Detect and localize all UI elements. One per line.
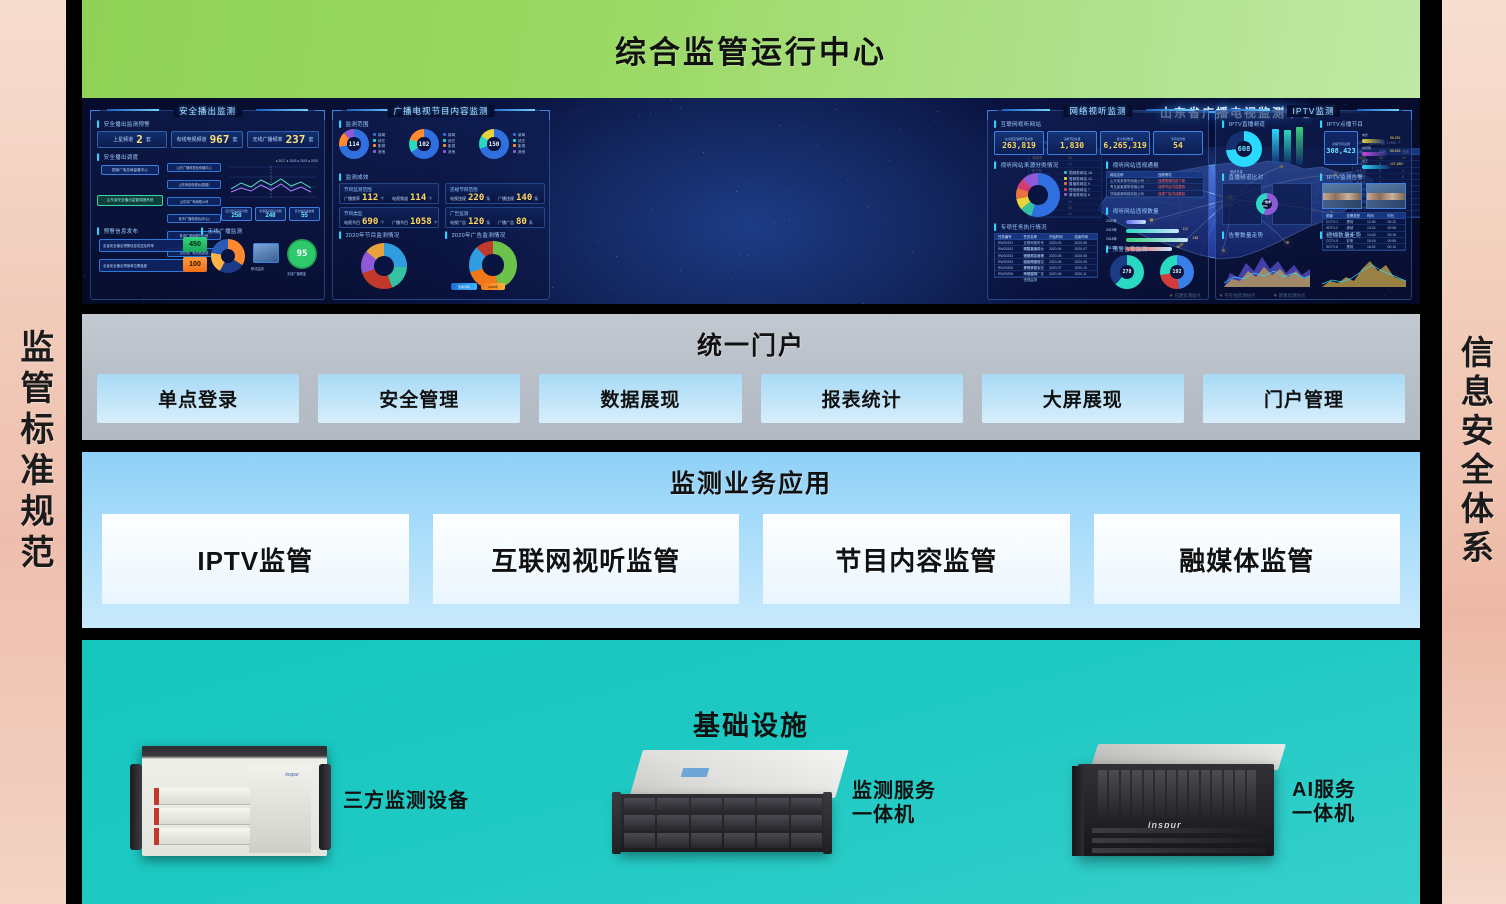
subtitle: 监测成效 [339,173,369,181]
section-unified-portal: 统一门户 单点登录安全管理数据展现报表统计大屏展现门户管理 [82,314,1420,440]
table-cell: 网络动漫内容专项核查 [1021,259,1047,264]
stat-card: 节目类型电视节目690个广播节目1058个 [339,207,439,228]
drive-bay [757,798,788,813]
table-cell: 网络直播平台违规内容清理 [1021,246,1047,251]
subtitle: 安全播出监测预警 [97,120,150,128]
subtitle: 互联网视听网站 [994,120,1041,128]
information-security-rail-label: 信息安全体系 [1457,335,1492,569]
drive-bay [724,798,755,813]
layer-stack: 综合监管运行中心 安全播出监测 安全播出监测预警 上星频道 2 套 [82,0,1420,904]
stat-card: 违规节目范围电视违规220条广播违规140条 [445,183,545,204]
infra-label: 三方监测设备 [343,789,469,813]
subtitle: 预警告警监测 [1106,245,1147,253]
kpi-value: 6,265,319 [1103,141,1146,150]
hbar [1362,165,1390,169]
flow-item: 山东省广电网络公司 [167,197,221,206]
stat-item: 电视节目690个 [344,217,384,227]
portal-box[interactable]: 数据展现 [539,374,741,423]
subtitle: 视听网站违规通报 [1106,161,1159,169]
stat-value: 220 [468,193,484,203]
vent-slot [1121,770,1130,818]
subtitle: IPTV直播频道 [1222,120,1265,128]
stat-value: 690 [362,217,378,227]
tag: 查看详情 [451,283,477,290]
donut-value: 150 [487,137,500,150]
subtitle: 直播频道比对 [1222,173,1263,181]
table-cell: 互联网视听专项整治行动 [1021,240,1047,245]
donut-chart [469,241,517,289]
year-value: 25 [1150,218,1154,222]
unified-portal-items: 单点登录安全管理数据展现报表统计大屏展现门户管理 [82,362,1420,423]
table-cell: 违规节目内容整改 [1155,184,1203,189]
task-table[interactable]: 任务编号任务名称开始时间结束时间RW20201互联网视听专项整治行动2020-0… [994,233,1098,278]
table-cell: 00:12 [1385,219,1406,224]
stat-card: 广告监测电视广告120条广播广告80条 [445,207,545,228]
stat-value: 1058 [410,217,432,227]
drive-bay [757,833,788,848]
portal-box[interactable]: 安全管理 [318,374,520,423]
stat-unit: 个 [434,220,438,226]
table-header-cell: 频道 [1323,213,1344,218]
tag: 2020年 [481,283,505,290]
star [325,174,326,175]
table-header-cell: 开始时间 [1046,234,1072,239]
kpi-card: 违规节目总量1,830 [1047,131,1097,155]
vent-slot [1224,770,1233,818]
panel-program-content-title: 广播电视节目内容监测 [387,105,494,117]
infrastructure-title: 基础设施 [82,640,1420,743]
drive-bay [657,815,688,830]
stat-value: 120 [468,217,484,227]
stat-item: 电视广告120条 [450,217,490,227]
vent-slot [1189,770,1198,818]
line-chart [219,163,319,203]
star [84,276,85,277]
table-cell: RW20203 [995,253,1021,258]
flow-node: 山东省安全播出监管调度系统 [97,195,163,206]
subtitle: 告警数量走势 [1222,231,1263,239]
drive-bay [657,833,688,848]
donut-chart: 114 [339,129,369,159]
table-header-cell: 告警类型 [1344,213,1365,218]
stat-label: 电视违规 [450,196,466,202]
drive-bay [624,833,655,848]
drive-bay [624,798,655,813]
kpi-card: 有线电视频道 967 套 [171,131,243,148]
stat-item: 电视违规220条 [450,193,490,203]
hbar-value: 127,489 [1390,162,1402,166]
table-header-cell: 任务编号 [995,234,1021,239]
donut-value: 114 [347,137,360,150]
table-header-cell: 时长 [1385,213,1406,218]
stat-label: 广播广告 [498,220,514,226]
kpi-card: 在全国互联网节目总量263,819 [994,131,1044,155]
caption: 无线广播覆盖 [287,271,306,276]
table-header-cell: 任务名称 [1021,234,1047,239]
stat-label: 广播频率 [344,196,360,202]
app-box[interactable]: IPTV监管 [102,514,409,604]
table-header-cell: 时间 [1364,213,1385,218]
table-cell: 00:15 [1385,232,1406,237]
hbar-label: 电影 [1362,133,1368,137]
ai-service-appliance-icon: inspur [1072,744,1282,860]
table-cell: 违规广告内容删除 [1155,191,1203,196]
table-cell: 静帧 [1344,225,1365,230]
alert-value: 100 [183,257,207,272]
donut-value: 102 [417,137,430,150]
year-label: 2018年 [1106,236,1117,241]
infra-item-third-party[interactable]: inspur 三方监测设备 [128,746,469,856]
dashboard-screenshot[interactable]: 安全播出监测 安全播出监测预警 上星频道 2 套 有线电视频道 967 套 [82,98,1420,304]
kpi-card: 上星频道 2 套 [97,131,167,148]
stat-unit: 条 [529,220,533,226]
hbar [1362,152,1387,156]
table-cell: 13:22 [1364,225,1385,230]
regulatory-standards-rail-label: 监管标准规范 [15,329,51,575]
stat-unit: 个 [380,196,384,202]
table-cell: 视听节目版权专项监测 [1021,265,1047,270]
video-thumbnail[interactable] [1366,183,1406,209]
subtitle: 2020年节目监测情况 [339,231,400,239]
vent-slot [1212,770,1221,818]
bar [1284,130,1291,165]
table-cell: 2020-11 [1072,271,1098,276]
panel-iptv[interactable]: IPTV监测 IPTV直播频道 608 频道总量 IPTV点播节目 点播节目总量… [1215,110,1412,300]
gauge-chart: 608 [1226,131,1262,167]
subtitle: IPTV点播节目 [1320,120,1363,128]
mini-card: 应急预案演练次数258 [221,207,252,221]
donut-chart: 一致率99% [1256,193,1278,215]
panel-safe-broadcast-title: 安全播出监测 [173,105,242,117]
chart-legend: 新闻综艺影视其他 [373,133,385,155]
area-chart [1224,243,1310,292]
portal-box[interactable]: 大屏展现 [982,374,1184,423]
table-header-cell: 网站名称 [1107,172,1155,177]
caption: 移动监测 [251,266,264,271]
drive-bay [724,815,755,830]
donut-chart: 150 [479,129,509,159]
table-cell: RW20202 [995,246,1021,251]
app-box[interactable]: 互联网视听监管 [433,514,740,604]
hbar-label: 电视剧 [1362,146,1371,150]
monitoring-apps-items: IPTV监管互联网视听监管节目内容监管融媒体监管 [82,500,1420,604]
mini-card: 重保期间值班次数248 [255,207,286,221]
infrastructure-devices: inspur 三方监测设备 监测服务 一体机 [82,736,1420,896]
infra-label: 监测服务 一体机 [852,779,936,827]
monitoring-apps-title: 监测业务应用 [82,452,1420,500]
flow-item: 各市广播电视台(中心) [167,214,221,223]
subtitle: 视听网站违规数量 [1106,207,1159,215]
alert-row: 全省安全播出预警信息发送及时率 [99,239,185,252]
kpi-value: 1,830 [1060,141,1084,150]
chart-legend: 新闻综艺影视其他 [513,133,525,155]
stat-item: 广播违规140条 [498,193,538,203]
table-cell: 2020-10 [1072,265,1098,270]
stat-item: 广播节目1058个 [392,217,438,227]
table-cell: 青岛某某视听传媒公司 [1107,184,1155,189]
table-cell: RW20206 [995,271,1021,276]
donut-chart: 102 [409,129,439,159]
drive-bay [724,833,755,848]
drive-bay [791,815,822,830]
table-cell: 2020-03 [1046,240,1072,245]
year-label: 2019年 [1106,227,1117,232]
alert-row: 全省安全播出预案单位覆盖度 [99,259,185,272]
vent-slot [1247,770,1256,818]
app-box[interactable]: 融媒体监管 [1094,514,1401,604]
stat-item: 电视频道114个 [392,193,432,203]
table-cell: 违规视频内容下架 [1155,178,1203,183]
table-cell: 2020-05 [1046,253,1072,258]
chart-legend: ● 2017 ● 2018 ● 2019 ● 2020 [276,159,318,163]
drive-bay [791,833,822,848]
subtitle: 无线广播监测 [201,227,242,235]
flow-root: 国家广电总局监管中心 [101,165,159,175]
table-cell: RW20201 [995,240,1021,245]
table-cell: 00:08 [1385,225,1406,230]
stat-unit: 条 [486,220,490,226]
stat-unit: 条 [534,196,538,202]
infra-item-ai-appliance[interactable]: inspur AI服务 一体机 [1072,744,1356,860]
table-cell: RW20205 [995,265,1021,270]
year-value: 112 [1183,227,1188,231]
kpi-card: 无线广播频率 237 套 [247,131,319,148]
vent-slot [1109,770,1118,818]
star [143,301,144,302]
table-cell: 短视频平台内容合规检查 [1021,253,1047,258]
year-value: 96 [1176,245,1180,249]
donut-chart [1016,173,1060,217]
table-cell: 14:40 [1364,232,1385,237]
bar-chart [1272,133,1303,165]
subtitle: IPTV监测告警 [1320,173,1363,181]
table-cell: RW20204 [995,259,1021,264]
drive-bay [691,833,722,848]
year-bar [1126,229,1179,233]
table-cell: 黑场 [1344,219,1365,224]
portal-box[interactable]: 门户管理 [1203,374,1405,423]
stat-value: 114 [410,193,426,203]
panel-network-av[interactable]: 网络视听监测 互联网视听网站 在全国互联网节目总量263,819违规节目总量1,… [987,110,1209,300]
table-cell: 2020-09 [1072,259,1098,264]
panel-program-content[interactable]: 广播电视节目内容监测 监测范围 省级台114新闻综艺影视其他市级台102新闻综艺… [332,110,550,300]
table-header-cell: 违规情况 [1155,172,1203,177]
alert-value: 450 [183,237,207,252]
stat-label: 电视广告 [450,220,466,226]
stat-item: 广播广告80条 [498,217,533,227]
stat-value: 80 [516,217,527,227]
vent-slot [1178,770,1187,818]
hbar-value: 96,281 [1390,136,1400,140]
subtitle: 2020年广告监测情况 [445,231,506,239]
donut-chart [361,243,407,289]
app-box[interactable]: 节目内容监管 [763,514,1070,604]
year-bar [1126,220,1146,224]
subtitle: 视听网站来源分类情况 [994,161,1059,169]
drive-bay [691,815,722,830]
panel-iptv-title: IPTV监测 [1287,105,1341,117]
table-cell: 2020-08 [1046,271,1072,276]
drive-bay [657,798,688,813]
vent-slot [1098,770,1107,818]
table-row: RW20206网络视听广告违规监测2020-082020-11 [995,271,1097,277]
information-security-rail: 信息安全体系 [1442,0,1506,904]
stat-value: 140 [516,193,532,203]
subtitle: 专项任务执行情况 [994,223,1047,231]
kpi-value: 263,819 [1002,141,1036,150]
year-value: 138 [1192,236,1198,240]
table-cell: 2020-07 [1046,265,1072,270]
drive-bay [757,815,788,830]
hbar [1362,139,1384,143]
hbar-value: 86,632 [1390,149,1400,153]
stat-item: 广播频率112个 [344,193,384,203]
section-operations-center: 综合监管运行中心 安全播出监测 安全播出监测预警 上星频道 2 套 [82,0,1420,304]
infra-item-monitoring-appliance[interactable]: 监测服务 一体机 [612,750,936,856]
subtitle: 安全播出调度 [97,153,138,161]
chart-legend: 新闻综艺影视其他 [443,133,455,155]
unified-portal-title: 统一门户 [82,314,1420,362]
stat-label: 广播违规 [498,196,514,202]
operations-center-header: 综合监管运行中心 [82,0,1420,98]
bar [1272,129,1279,165]
kpi-card: 累计监测数量6,265,319 [1100,131,1150,155]
dashboard-canvas: 安全播出监测 安全播出监测预警 上星频道 2 套 有线电视频道 967 套 [82,98,1420,304]
flow-item: 山东有线电视台(集团) [167,180,221,189]
stat-label: 广播节目 [392,220,408,226]
portal-box[interactable]: 单点登录 [97,374,299,423]
stat-value: 112 [362,193,378,203]
subtitle: 监测范围 [339,120,369,128]
stat-label: 电视频道 [392,196,408,202]
section-infrastructure: 基础设施 inspur 三方监测设备 [82,640,1420,904]
table-cell: 2020-06 [1072,240,1098,245]
vent-slot [1235,770,1244,818]
third-party-monitoring-device-icon: inspur [128,746,333,856]
table-cell: SDTV-2 [1323,225,1344,230]
map-section: 山东省广播电视监测中心 [552,98,982,304]
stat-unit: 个 [380,220,384,226]
infra-label: AI服务 一体机 [1292,778,1356,826]
kpi-value: 54 [1173,141,1183,150]
vent-slot [1155,770,1164,818]
slide-root: 监管标准规范 信息安全体系 综合监管运行中心 安全播出监测 安全播出监测预警 [0,0,1506,904]
area-chart [1322,243,1406,292]
mini-card-value: 258 [231,213,241,219]
year-label: 2020年 [1106,218,1117,223]
stat-label: 电视节目 [344,220,360,226]
page-title: 综合监管运行中心 [615,27,887,72]
chart-legend: 视频类网站 18 音频类网站 12 直播类网站 9 短视频网站 7 其他类网站 … [1064,171,1092,199]
donut-chart: 192 [1160,255,1194,289]
vent-slot [1167,770,1176,818]
table-header-cell: 结束时间 [1072,234,1098,239]
kpi-card: 专项任务数54 [1153,131,1203,155]
violation-table[interactable]: 网站名称违规情况山东某某视听网络公司违规视频内容下架青岛某某视听传媒公司违规节目… [1106,171,1204,198]
table-cell: 2020-08 [1072,253,1098,258]
vehicle-icon [253,243,279,263]
panel-safe-broadcast[interactable]: 安全播出监测 安全播出监测预警 上星频道 2 套 有线电视频道 967 套 [90,110,325,300]
drive-bay [791,798,822,813]
table-cell: CCTV-1 [1323,219,1344,224]
table-cell: 2020-04 [1046,246,1072,251]
vent-slot [1132,770,1141,818]
drive-bay [691,798,722,813]
vent-slot [1201,770,1210,818]
table-cell: 济南某某网络科技公司 [1107,191,1155,196]
panel-network-av-title: 网络视听监测 [1063,105,1132,117]
stat-unit: 条 [486,196,490,202]
table-cell: 2020-07 [1072,246,1098,251]
video-thumbnail[interactable] [1322,183,1362,209]
gauge-chart: 95 [287,239,317,269]
vent-slot [1144,770,1153,818]
point-total-card: 点播节目总量 308,423 [1324,131,1358,165]
flow-item: 山东广播电视台传输中心 [167,163,221,172]
table-cell: 网络视听广告违规监测 [1021,271,1047,276]
monitoring-service-appliance-icon [612,750,842,856]
stat-card: 节目监测范围广播频率112个电视频道114个 [339,183,439,204]
year-bar [1126,238,1188,242]
table-cell: 12:05 [1364,219,1385,224]
section-monitoring-apps: 监测业务应用 IPTV监管互联网视听监管节目内容监管融媒体监管 [82,452,1420,628]
mini-card: 安全播出事故数55 [289,207,320,221]
mini-card-value: 248 [265,213,275,219]
table-cell: 山东某某视听网络公司 [1107,178,1155,183]
portal-box[interactable]: 报表统计 [761,374,963,423]
mini-card-value: 55 [301,213,308,219]
regulatory-standards-rail: 监管标准规范 [0,0,66,904]
stat-unit: 个 [428,196,432,202]
subtitle: 预警信息发布 [97,227,138,235]
donut-chart: 278 [1110,255,1144,289]
channel-list-right[interactable] [1272,183,1312,225]
hbar-label: 综艺 [1362,159,1368,163]
subtitle: 违规数量走势 [1320,231,1361,239]
table-row: 济南某某网络科技公司违规广告内容删除 [1107,191,1203,197]
radial-chart [211,239,245,273]
drive-bay [624,815,655,830]
bar [1296,127,1303,165]
table-cell: 2020-06 [1046,259,1072,264]
